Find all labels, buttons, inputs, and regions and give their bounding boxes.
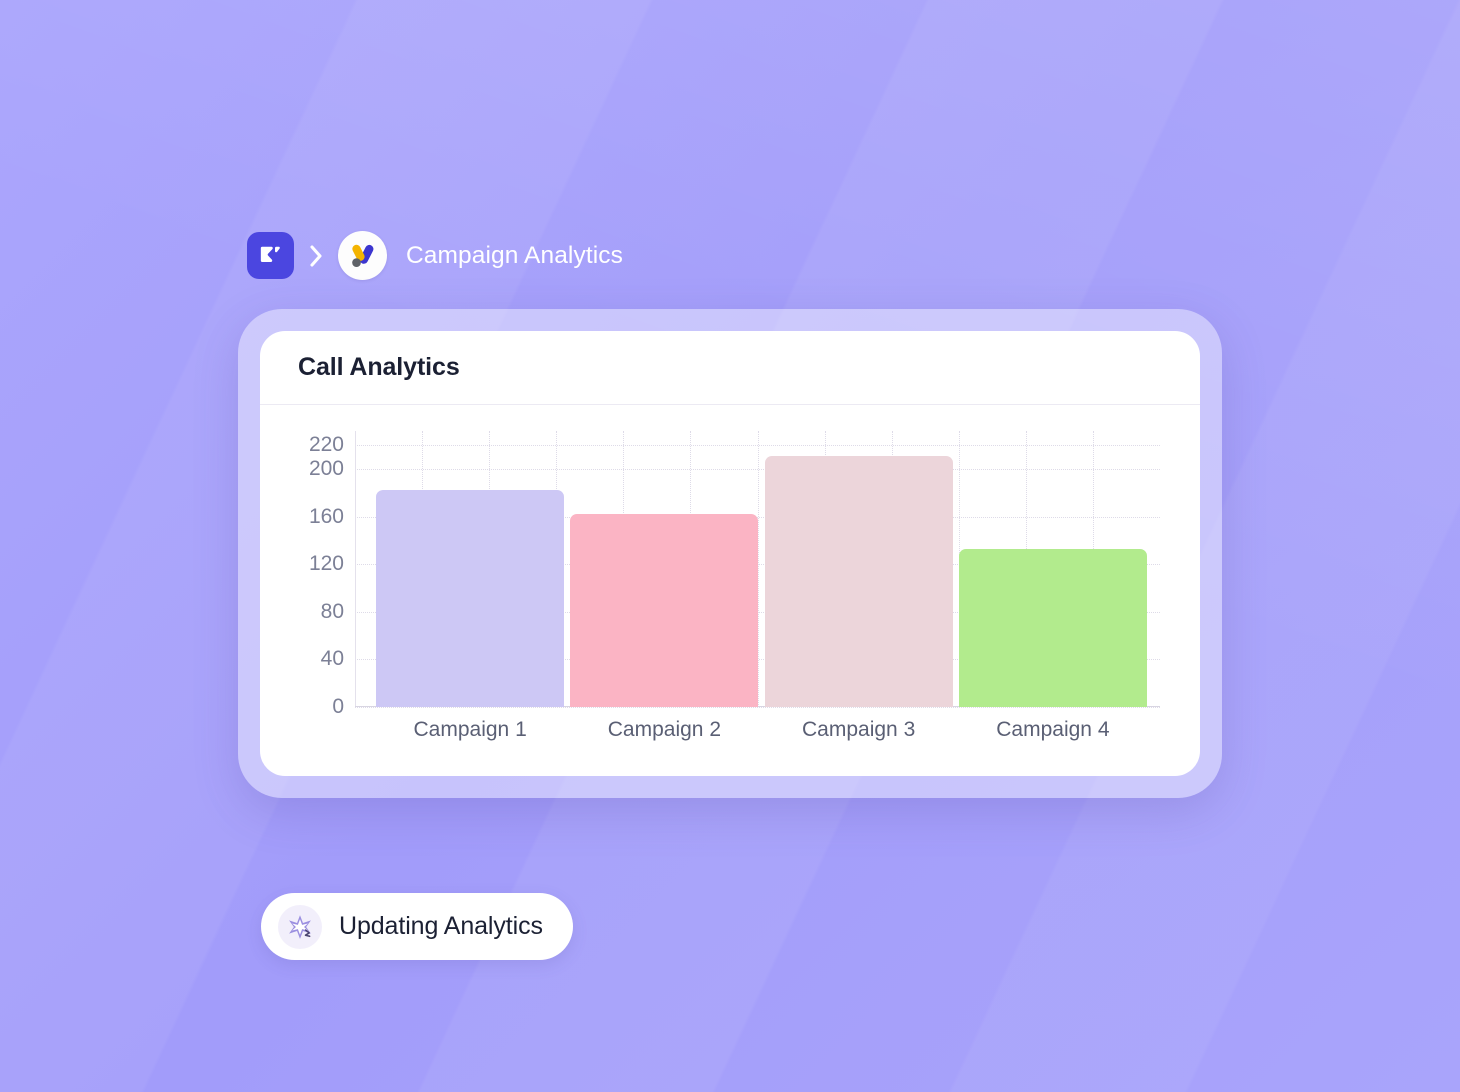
card-header: Call Analytics xyxy=(260,331,1200,405)
bar-group: Campaign 2 xyxy=(567,431,761,707)
x-axis-tick-label: Campaign 3 xyxy=(802,718,915,742)
gridline-horizontal xyxy=(355,707,1160,708)
chart-plot-area: 04080120160200220 Campaign 1Campaign 2Ca… xyxy=(355,431,1160,707)
bar-chart: 04080120160200220 Campaign 1Campaign 2Ca… xyxy=(260,405,1200,776)
bar-group: Campaign 3 xyxy=(762,431,956,707)
y-axis-tick-label: 220 xyxy=(309,433,344,457)
y-axis-tick-label: 120 xyxy=(309,552,344,576)
bar-group: Campaign 1 xyxy=(373,431,567,707)
y-axis-tick-label: 80 xyxy=(321,600,344,624)
breadcrumb-title: Campaign Analytics xyxy=(406,242,623,270)
x-axis-tick-label: Campaign 1 xyxy=(414,718,527,742)
chevron-right-icon xyxy=(294,243,338,269)
bar[interactable] xyxy=(765,456,953,707)
sparkle-star-icon xyxy=(278,905,322,949)
call-analytics-card: Call Analytics 04080120160200220 Campaig… xyxy=(260,331,1200,776)
status-label: Updating Analytics xyxy=(339,912,543,941)
phone-chat-logo-icon[interactable] xyxy=(247,232,294,279)
y-axis-tick-label: 160 xyxy=(309,505,344,529)
bar[interactable] xyxy=(959,549,1147,707)
breadcrumb: Campaign Analytics xyxy=(247,231,623,280)
y-axis-tick-label: 200 xyxy=(309,457,344,481)
y-axis-tick-label: 40 xyxy=(321,647,344,671)
bar[interactable] xyxy=(570,514,758,707)
google-ads-icon[interactable] xyxy=(338,231,387,280)
x-axis-tick-label: Campaign 4 xyxy=(996,718,1109,742)
status-badge[interactable]: Updating Analytics xyxy=(261,893,573,960)
bar-group: Campaign 4 xyxy=(956,431,1150,707)
x-axis-tick-label: Campaign 2 xyxy=(608,718,721,742)
y-axis-tick-label: 0 xyxy=(332,695,344,719)
bar-series: Campaign 1Campaign 2Campaign 3Campaign 4 xyxy=(355,431,1160,707)
bar[interactable] xyxy=(376,490,564,707)
page-title: Call Analytics xyxy=(298,353,460,382)
